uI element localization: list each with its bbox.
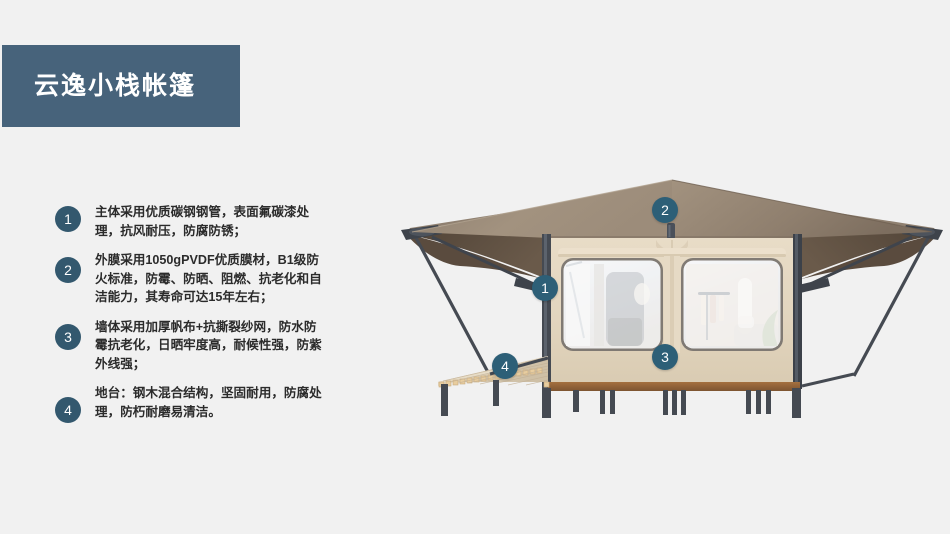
feature-number-badge-4: 4 (55, 397, 81, 423)
list-item: 3 墙体采用加厚帆布+抗撕裂纱网，防水防霉抗老化，日晒牢度高，耐候性强，防紫外线… (55, 318, 355, 374)
list-item: 1 主体采用优质碳钢钢管，表面氟碳漆处理，抗风耐压，防腐防锈； (55, 203, 355, 240)
slide-canvas: 云逸小栈帐篷 1 主体采用优质碳钢钢管，表面氟碳漆处理，抗风耐压，防腐防锈； 2… (0, 0, 950, 534)
list-item: 2 外膜采用1050gPVDF优质膜材，B1级防火标准，防霉、防晒、阻燃、抗老化… (55, 251, 355, 307)
feature-number-badge-3: 3 (55, 324, 81, 350)
feature-list: 1 主体采用优质碳钢钢管，表面氟碳漆处理，抗风耐压，防腐防锈； 2 外膜采用10… (55, 203, 355, 434)
feature-text-4: 地台：钢木混合结构，坚固耐用，防腐处理，防朽耐磨易清洁。 (95, 384, 327, 421)
callout-badge-1[interactable]: 1 (532, 275, 558, 301)
callout-badge-2[interactable]: 2 (652, 197, 678, 223)
roof-apex-fitting (667, 223, 675, 239)
page-title: 云逸小栈帐篷 (34, 74, 196, 99)
feature-text-2: 外膜采用1050gPVDF优质膜材，B1级防火标准，防霉、防晒、阻燃、抗老化和自… (95, 251, 327, 307)
title-banner: 云逸小栈帐篷 (2, 45, 240, 127)
callout-badge-4[interactable]: 4 (492, 353, 518, 379)
feature-text-3: 墙体采用加厚帆布+抗撕裂纱网，防水防霉抗老化，日晒牢度高，耐候性强，防紫外线强； (95, 318, 327, 374)
feature-number-badge-1: 1 (55, 206, 81, 232)
feature-text-1: 主体采用优质碳钢钢管，表面氟碳漆处理，抗风耐压，防腐防锈； (95, 203, 327, 240)
window-left (561, 258, 663, 351)
list-item: 4 地台：钢木混合结构，坚固耐用，防腐处理，防朽耐磨易清洁。 (55, 384, 355, 423)
feature-number-badge-2: 2 (55, 257, 81, 283)
callout-badge-3[interactable]: 3 (652, 344, 678, 370)
window-right (681, 258, 783, 351)
